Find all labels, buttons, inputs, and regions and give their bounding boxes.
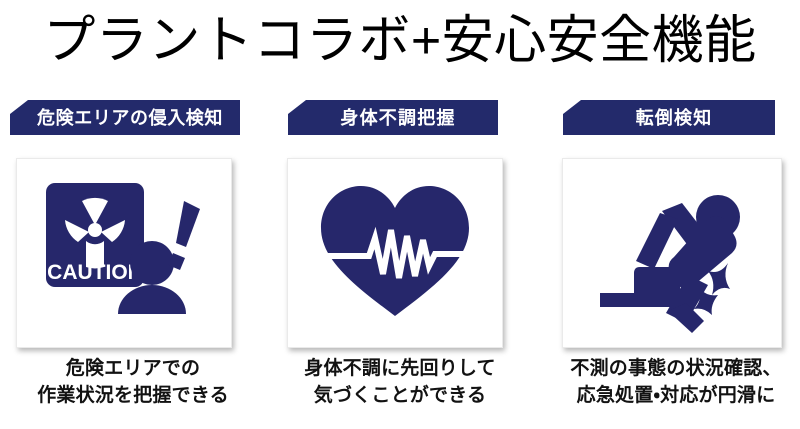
feature-column-fall-detection: 転倒検知	[534, 94, 800, 429]
slide-title: プラントコラボ+安心安全機能	[0, 2, 800, 80]
icon-card-hazard-area-intrusion: CAUTION	[16, 158, 232, 348]
heart-with-ecg-pulse-icon	[315, 178, 475, 328]
feature-columns: 危険エリアの侵入検知 CAUTION	[0, 94, 800, 429]
caption-line: 気づくことができる	[267, 383, 533, 410]
banner-label: 転倒検知	[636, 109, 713, 127]
exclamation-mark-icon	[168, 201, 200, 270]
caption-physical-condition: 身体不調に先回りして 気づくことができる	[267, 356, 533, 410]
caution-radiation-sign-with-worker-icon: CAUTION	[34, 173, 214, 333]
feature-column-physical-condition: 身体不調把握 身体不調に先回りして 気づくことができる	[267, 94, 533, 429]
caution-sign-text: CAUTION	[47, 261, 143, 284]
caption-line: 応急処置・対応が円滑に	[552, 383, 800, 410]
banner-label: 身体不調把握	[340, 109, 455, 127]
banner-hazard-area-intrusion: 危険エリアの侵入検知	[10, 100, 240, 135]
icon-card-physical-condition	[287, 158, 503, 348]
feature-column-hazard-area-intrusion: 危険エリアの侵入検知 CAUTION	[0, 94, 266, 429]
caption-line: 身体不調に先回りして	[267, 356, 533, 383]
caption-line: 不測の事態の状況確認、	[552, 356, 800, 383]
person-falling-over-step-icon	[582, 173, 762, 333]
caption-line: 作業状況を把握できる	[0, 383, 266, 410]
caption-line: 危険エリアでの	[0, 356, 266, 383]
banner-label: 危険エリアの侵入検知	[37, 109, 223, 127]
banner-physical-condition: 身体不調把握	[288, 100, 498, 135]
caption-fall-detection: 不測の事態の状況確認、 応急処置・対応が円滑に	[552, 356, 800, 410]
banner-fall-detection: 転倒検知	[563, 100, 775, 135]
icon-card-fall-detection	[562, 158, 782, 348]
caption-hazard-area-intrusion: 危険エリアでの 作業状況を把握できる	[0, 356, 266, 410]
